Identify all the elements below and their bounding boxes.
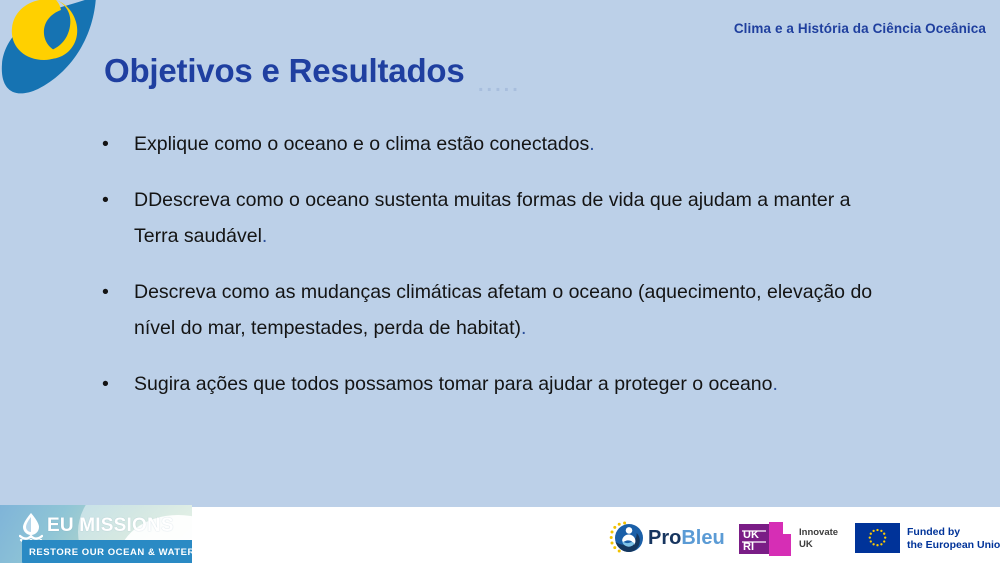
brand-mark-icon <box>0 0 112 102</box>
bullet-marker-icon: • <box>102 126 109 162</box>
list-item: • DDescreva como o oceano sustenta muita… <box>96 182 896 254</box>
probleu-word-pro: Pro <box>648 527 681 549</box>
innovate-uk-logo: UK RI Innovate UK <box>739 522 835 556</box>
list-item-tail: . <box>262 225 267 247</box>
bullet-marker-icon: • <box>102 182 109 218</box>
innovate-uk-line1: Innovate <box>799 527 838 539</box>
eu-funding-line1: Funded by <box>907 526 1000 539</box>
svg-text:RI: RI <box>743 541 754 553</box>
eu-funding-line2: the European Union <box>907 539 1000 552</box>
eu-flag-icon <box>855 523 900 553</box>
water-drop-icon <box>19 513 43 543</box>
page-title: Objetivos e Resultados <box>104 52 465 90</box>
ukri-mark-icon: UK RI <box>739 522 795 556</box>
innovate-uk-line2: UK <box>799 539 838 551</box>
probleu-wordmark: ProBleu <box>648 527 725 550</box>
probleu-logo: ProBleu <box>608 521 723 557</box>
slide: Clima e a História da Ciência Oceânica O… <box>0 0 1000 563</box>
list-item-text: Sugira ações que todos possamos tomar pa… <box>134 373 778 395</box>
innovate-uk-wordmark: Innovate UK <box>799 527 838 550</box>
probleu-mark-icon <box>608 521 646 557</box>
eu-missions-wordmark: EU MISSIONS <box>47 515 174 537</box>
eu-funding-logo: Funded by the European Union <box>855 523 995 555</box>
list-item: • Sugira ações que todos possamos tomar … <box>96 366 896 402</box>
list-item: • Explique como o oceano e o clima estão… <box>96 126 896 162</box>
list-item-text: Descreva como as mudanças climáticas afe… <box>134 281 872 339</box>
probleu-word-bleu: Bleu <box>681 527 724 549</box>
objectives-list: • Explique como o oceano e o clima estão… <box>96 126 896 402</box>
list-item-text: DDescreva como o oceano sustenta muitas … <box>134 189 850 247</box>
eu-funding-wordmark: Funded by the European Union <box>907 526 1000 551</box>
header-title: Clima e a História da Ciência Oceânica <box>734 21 986 36</box>
bullet-marker-icon: • <box>102 366 109 402</box>
list-item-text: Explique como o oceano e o clima estão c… <box>134 133 595 155</box>
bullet-marker-icon: • <box>102 274 109 310</box>
eu-missions-tagline: RESTORE OUR OCEAN & WATERS <box>29 547 192 558</box>
list-item-tail: . <box>521 317 526 339</box>
list-item-tail: . <box>772 373 777 395</box>
title-trailing-dots: ..... <box>478 74 521 97</box>
eu-missions-logo: EU MISSIONS RESTORE OUR OCEAN & WATERS <box>0 505 192 563</box>
list-item: • Descreva como as mudanças climáticas a… <box>96 274 896 346</box>
eu-missions-tagline-banner: RESTORE OUR OCEAN & WATERS <box>22 540 192 563</box>
list-item-tail: . <box>589 133 594 155</box>
